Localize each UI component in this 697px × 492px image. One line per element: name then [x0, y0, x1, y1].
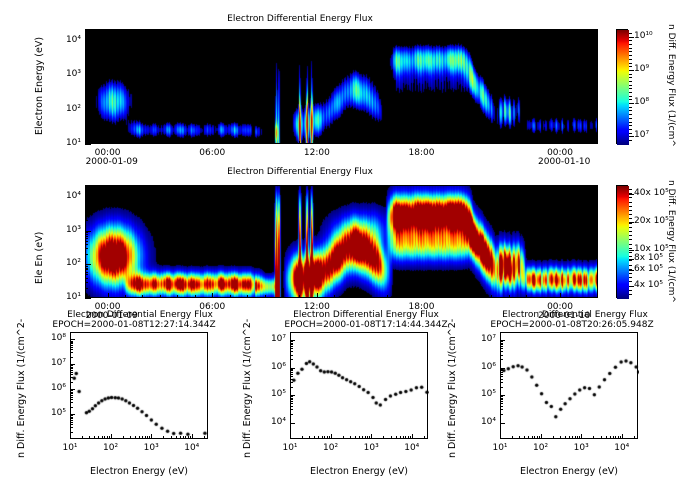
- spectrum-0-ytick: 10⁸: [40, 333, 66, 343]
- panel-top-date-right: 2000-01-10: [538, 157, 582, 167]
- tick-mark: [629, 210, 632, 211]
- tick-mark: [629, 133, 632, 134]
- spectrum-2-xtick: 10³: [567, 443, 595, 453]
- tick-mark: [629, 265, 632, 266]
- tick-mark: [629, 214, 632, 215]
- tick-mark: [85, 298, 91, 299]
- tick-mark: [629, 114, 632, 115]
- spectrum-2-title: Electron Differential Energy Flux: [455, 310, 695, 320]
- tick-mark: [629, 206, 632, 207]
- panel-mid-ylabel-wrap: Ele En (eV): [24, 192, 36, 292]
- panel-mid-title: Electron Differential Energy Flux: [0, 167, 600, 177]
- tick-mark: [629, 281, 632, 282]
- panel-top-spectrogram[interactable]: [85, 29, 598, 144]
- panel-mid-colorbar: [616, 185, 628, 298]
- tick-mark: [629, 290, 632, 291]
- tick-mark: [629, 239, 632, 240]
- spectrum-2-xtick: 10²: [527, 443, 555, 453]
- tick-mark: [629, 33, 632, 34]
- panel-top-colorbar-label: n Diff. Energy Flux (1/(cm^: [666, 24, 676, 147]
- tick-mark: [629, 44, 632, 45]
- panel-top-xtick: 06:00: [194, 148, 230, 158]
- panel-mid-colorbar-label: n Diff. Energy Flux (1/(cm^: [666, 180, 676, 303]
- tick-mark: [629, 59, 632, 60]
- panel-top-xtick: 00:00: [542, 148, 578, 158]
- panel-mid-ytick: 10³: [53, 225, 81, 235]
- tick-mark: [629, 122, 632, 123]
- panel-mid-ylabel: Ele En (eV): [34, 232, 45, 284]
- panel-top-title: Electron Differential Energy Flux: [0, 14, 600, 24]
- spectrum-1-ylabel: n Diff. Energy Flux (1/(cm^2-: [242, 319, 253, 458]
- tick-mark: [629, 74, 632, 75]
- tick-mark: [629, 193, 632, 194]
- spectrum-2-ylabel: n Diff. Energy Flux (1/(cm^2-: [447, 319, 458, 458]
- panel-top-colorbar: [616, 29, 628, 144]
- spectrum-1-xtick: 10⁴: [398, 443, 426, 453]
- spectrum-0-xtick: 10¹: [56, 443, 84, 453]
- spectrum-1-xlabel: Electron Energy (eV): [290, 466, 428, 477]
- tick-mark: [629, 92, 632, 93]
- spectrum-1-xtick: 10¹: [276, 443, 304, 453]
- spectrum-0-ytick: 10⁷: [40, 358, 66, 368]
- tick-mark: [629, 223, 632, 224]
- figure-canvas: Electron Differential Energy Flux Electr…: [0, 0, 697, 492]
- tick-mark: [629, 48, 632, 49]
- tick-mark: [629, 286, 632, 287]
- panel-top-ytick: 10¹: [53, 138, 81, 148]
- spectrum-2-ytick: 10⁶: [470, 362, 496, 372]
- tick-mark: [85, 144, 91, 145]
- spectrum-0-ytick: 10⁵: [40, 408, 66, 418]
- tick-mark: [629, 244, 632, 245]
- tick-mark: [629, 286, 634, 287]
- tick-mark: [629, 66, 632, 67]
- tick-mark: [629, 136, 634, 137]
- panel-top-xtick: 18:00: [404, 148, 440, 158]
- tick-mark: [629, 189, 632, 190]
- tick-mark: [629, 140, 632, 141]
- panel-top-colorbar-tick: 10⁷: [634, 130, 668, 140]
- tick-mark: [629, 273, 632, 274]
- panel-top-ytick: 10⁴: [53, 35, 81, 45]
- panel-top-date-left: 2000-01-09: [86, 157, 130, 167]
- tick-mark: [629, 270, 634, 271]
- tick-mark: [629, 85, 632, 86]
- tick-mark: [629, 96, 632, 97]
- tick-mark: [629, 125, 632, 126]
- panel-mid-ytick: 10¹: [53, 292, 81, 302]
- spectrum-1-ylabel-wrap: n Diff. Energy Flux (1/(cm^2-: [232, 330, 244, 450]
- panel-top-colorbar-tick: 10⁹: [634, 64, 668, 74]
- spectrum-2-ytick: 10⁷: [470, 334, 496, 344]
- spectrum-2-xtick: 10⁴: [608, 443, 636, 453]
- tick-mark: [629, 227, 632, 228]
- spectrum-2-xlabel: Electron Energy (eV): [500, 466, 638, 477]
- panel-mid-spectrogram[interactable]: [85, 185, 598, 298]
- tick-mark: [629, 103, 632, 104]
- tick-mark: [629, 81, 632, 82]
- tick-mark: [629, 37, 632, 38]
- tick-mark: [629, 99, 632, 100]
- panel-mid-ytick: 10²: [53, 258, 81, 268]
- tick-mark: [629, 260, 632, 261]
- spectrum-2-ytick: 10⁵: [470, 389, 496, 399]
- spectrum-2-plot[interactable]: [500, 332, 638, 439]
- tick-mark: [629, 202, 632, 203]
- spectrum-1-ytick: 10⁵: [260, 389, 286, 399]
- spectrum-0-ylabel: n Diff. Energy Flux (1/(cm^2-: [16, 319, 27, 458]
- spectrum-0-xlabel: Electron Energy (eV): [70, 466, 208, 477]
- tick-mark: [629, 51, 632, 52]
- tick-mark: [629, 194, 634, 195]
- spectrum-0-xtick: 10²: [97, 443, 125, 453]
- panel-top-colorbar-tick: 10⁸: [634, 97, 668, 107]
- panel-top-xtick: 00:00: [90, 148, 126, 158]
- panel-mid-ytick: 10⁴: [53, 191, 81, 201]
- panel-top-ytick: 10³: [53, 69, 81, 79]
- panel-top-ylabel: Electron Energy (eV): [34, 37, 45, 135]
- spectrum-0-epoch: EPOCH=2000-01-08T12:27:14.344Z: [14, 320, 254, 330]
- tick-mark: [629, 231, 632, 232]
- spectrum-0-ytick: 10⁶: [40, 383, 66, 393]
- panel-top-ytick: 10²: [53, 104, 81, 114]
- tick-mark: [629, 70, 634, 71]
- tick-mark: [629, 197, 632, 198]
- spectrum-0-title: Electron Differential Energy Flux: [20, 310, 260, 320]
- tick-mark: [629, 37, 634, 38]
- spectrum-1-ytick: 10⁶: [260, 362, 286, 372]
- tick-mark: [629, 252, 632, 253]
- spectrum-0-plot[interactable]: [70, 332, 208, 439]
- tick-mark: [629, 294, 632, 295]
- tick-mark: [629, 136, 632, 137]
- tick-mark: [629, 248, 632, 249]
- tick-mark: [629, 118, 632, 119]
- tick-mark: [629, 77, 632, 78]
- tick-mark: [629, 88, 632, 89]
- tick-mark: [629, 40, 632, 41]
- spectrum-2-epoch: EPOCH=2000-01-08T20:26:05.948Z: [452, 320, 692, 330]
- tick-mark: [629, 277, 632, 278]
- spectrum-0-xtick: 10⁴: [178, 443, 206, 453]
- tick-mark: [629, 250, 634, 251]
- tick-mark: [629, 107, 632, 108]
- tick-mark: [629, 70, 632, 71]
- tick-mark: [629, 110, 632, 111]
- spectrum-1-xtick: 10²: [317, 443, 345, 453]
- tick-mark: [629, 55, 632, 56]
- spectrum-2-ytick: 10⁴: [470, 417, 496, 427]
- spectrum-0-xtick: 10³: [137, 443, 165, 453]
- tick-mark: [629, 222, 634, 223]
- spectrum-0-ylabel-wrap: n Diff. Energy Flux (1/(cm^2-: [6, 330, 18, 450]
- spectrum-1-xtick: 10³: [357, 443, 385, 453]
- spectrum-1-ytick: 10⁴: [260, 417, 286, 427]
- tick-mark: [629, 103, 634, 104]
- tick-mark: [629, 269, 632, 270]
- panel-top-xtick: 12:00: [299, 148, 335, 158]
- tick-mark: [629, 129, 632, 130]
- tick-mark: [629, 256, 632, 257]
- tick-mark: [629, 218, 632, 219]
- panel-top-colorbar-tick: 10¹⁰: [634, 31, 668, 41]
- panel-top-ylabel-wrap: Electron Energy (eV): [24, 30, 36, 135]
- tick-mark: [629, 235, 632, 236]
- spectrum-2-xtick: 10¹: [486, 443, 514, 453]
- spectrum-1-ytick: 10⁷: [260, 334, 286, 344]
- tick-mark: [629, 259, 634, 260]
- spectrum-2-ylabel-wrap: n Diff. Energy Flux (1/(cm^2-: [437, 330, 449, 450]
- spectrum-1-plot[interactable]: [290, 332, 428, 439]
- tick-mark: [629, 63, 632, 64]
